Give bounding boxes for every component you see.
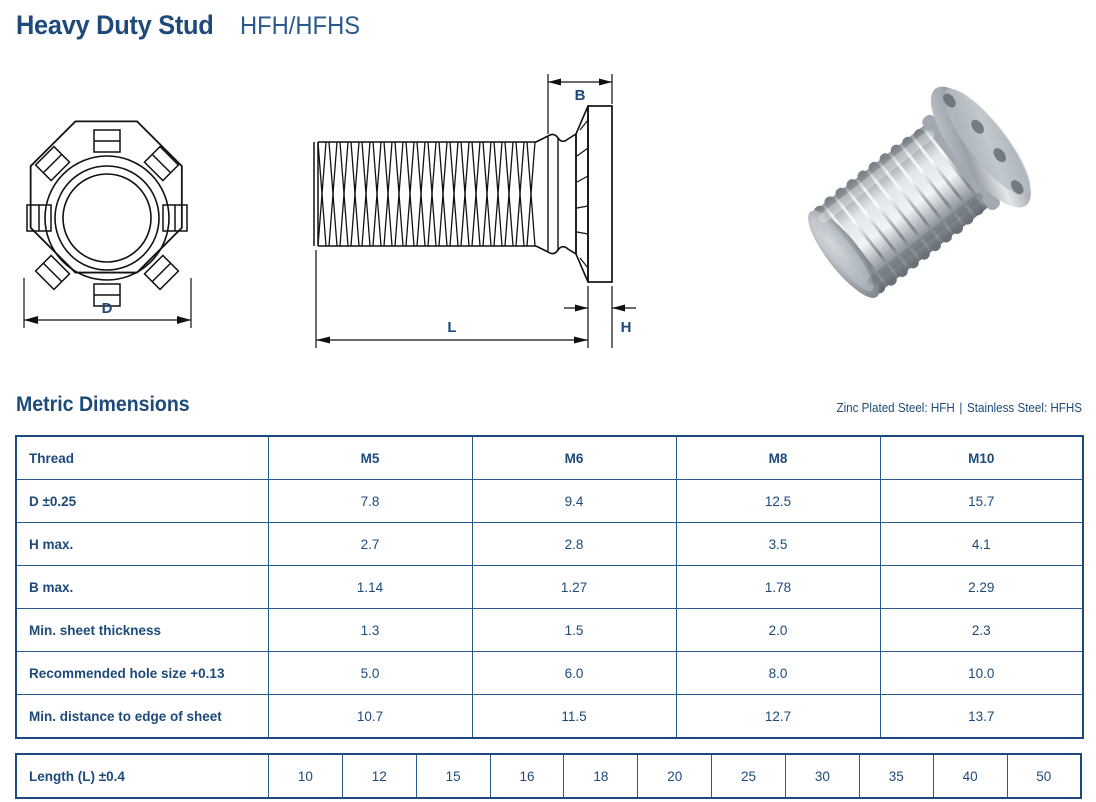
table-cell: 1.14 — [268, 566, 472, 609]
length-cell: 25 — [712, 754, 786, 798]
table-row: Recommended hole size +0.135.06.08.010.0 — [16, 652, 1083, 695]
table-cell: 2.3 — [880, 609, 1083, 652]
table-cell: 8.0 — [676, 652, 880, 695]
stud-product-photo — [786, 80, 1086, 345]
dimension-label-l: L — [447, 319, 456, 336]
length-cell: 15 — [416, 754, 490, 798]
length-cell: 12 — [342, 754, 416, 798]
table-cell: 2.8 — [472, 523, 676, 566]
arrow-left-l — [316, 337, 330, 344]
row-label: Recommended hole size +0.13 — [16, 652, 268, 695]
length-cell: 16 — [490, 754, 564, 798]
arrow-left — [24, 316, 38, 324]
page-header: Heavy Duty Stud HFH/HFHS — [16, 10, 366, 41]
table-row-header: ThreadM5M6M8M10 — [16, 436, 1083, 480]
row-label: H max. — [16, 523, 268, 566]
table-cell: 2.29 — [880, 566, 1083, 609]
table-row: B max.1.141.271.782.29 — [16, 566, 1083, 609]
arrow-right-h — [575, 305, 588, 312]
table-cell: 11.5 — [472, 695, 676, 739]
drawings-band: D — [0, 60, 1096, 360]
table-cell: 5.0 — [268, 652, 472, 695]
stud-side-view-drawing: B L H — [296, 60, 666, 360]
metric-dimensions-table: ThreadM5M6M8M10D ±0.257.89.412.515.7H ma… — [15, 435, 1084, 739]
table-cell: 7.8 — [268, 480, 472, 523]
column-header-m10: M10 — [880, 436, 1083, 480]
row-label: D ±0.25 — [16, 480, 268, 523]
table-cell: 1.27 — [472, 566, 676, 609]
table-row: Min. distance to edge of sheet10.711.512… — [16, 695, 1083, 739]
column-header-thread: Thread — [16, 436, 268, 480]
table-cell: 1.78 — [676, 566, 880, 609]
table-cell: 10.7 — [268, 695, 472, 739]
table-cell: 1.5 — [472, 609, 676, 652]
table-row: Length (L) ±0.41012151618202530354050 — [16, 754, 1081, 798]
table-cell: 9.4 — [472, 480, 676, 523]
table-cell: 13.7 — [880, 695, 1083, 739]
arrow-left-b — [548, 79, 561, 86]
arrow-right-b — [599, 79, 612, 86]
length-cell: 10 — [268, 754, 342, 798]
table-cell: 2.7 — [268, 523, 472, 566]
flange-top-view-drawing: D — [6, 70, 216, 350]
column-header-m6: M6 — [472, 436, 676, 480]
table-cell: 10.0 — [880, 652, 1083, 695]
row-label: Min. sheet thickness — [16, 609, 268, 652]
page-title: Heavy Duty Stud — [16, 10, 213, 41]
table-cell: 6.0 — [472, 652, 676, 695]
table-row: H max.2.72.83.54.1 — [16, 523, 1083, 566]
arrow-left-h — [612, 305, 625, 312]
length-table: Length (L) ±0.41012151618202530354050 — [15, 753, 1082, 799]
table-cell: 12.7 — [676, 695, 880, 739]
length-row-label: Length (L) ±0.4 — [16, 754, 268, 798]
column-header-m8: M8 — [676, 436, 880, 480]
length-cell: 30 — [786, 754, 860, 798]
length-cell: 20 — [638, 754, 712, 798]
table-cell: 3.5 — [676, 523, 880, 566]
column-header-m5: M5 — [268, 436, 472, 480]
table-row: Min. sheet thickness1.31.52.02.3 — [16, 609, 1083, 652]
arrow-right — [177, 316, 191, 324]
dimensions-table-body: ThreadM5M6M8M10D ±0.257.89.412.515.7H ma… — [16, 436, 1083, 738]
table-cell: 12.5 — [676, 480, 880, 523]
table-cell: 1.3 — [268, 609, 472, 652]
table-cell: 4.1 — [880, 523, 1083, 566]
length-cell: 35 — [859, 754, 933, 798]
materials-note: Zinc Plated Steel: HFH|Stainless Steel: … — [836, 401, 1082, 415]
length-cell: 50 — [1007, 754, 1081, 798]
arrow-right-l — [574, 337, 588, 344]
section-title: Metric Dimensions — [16, 393, 190, 417]
length-cell: 18 — [564, 754, 638, 798]
material-stainless-label: Stainless Steel: HFHS — [967, 401, 1082, 415]
table-cell: 15.7 — [880, 480, 1083, 523]
length-table-body: Length (L) ±0.41012151618202530354050 — [16, 754, 1081, 798]
row-label: Min. distance to edge of sheet — [16, 695, 268, 739]
table-cell: 2.0 — [676, 609, 880, 652]
product-code-label: HFH/HFHS — [240, 12, 360, 41]
section-heading-row: Metric Dimensions Zinc Plated Steel: HFH… — [0, 393, 1096, 427]
row-label: B max. — [16, 566, 268, 609]
dimension-label-d: D — [102, 300, 113, 317]
dimension-label-h: H — [621, 319, 632, 336]
dimension-label-b: B — [575, 87, 586, 104]
table-row: D ±0.257.89.412.515.7 — [16, 480, 1083, 523]
length-cell: 40 — [933, 754, 1007, 798]
materials-separator: | — [959, 401, 962, 415]
material-zinc-label: Zinc Plated Steel: HFH — [836, 401, 954, 415]
